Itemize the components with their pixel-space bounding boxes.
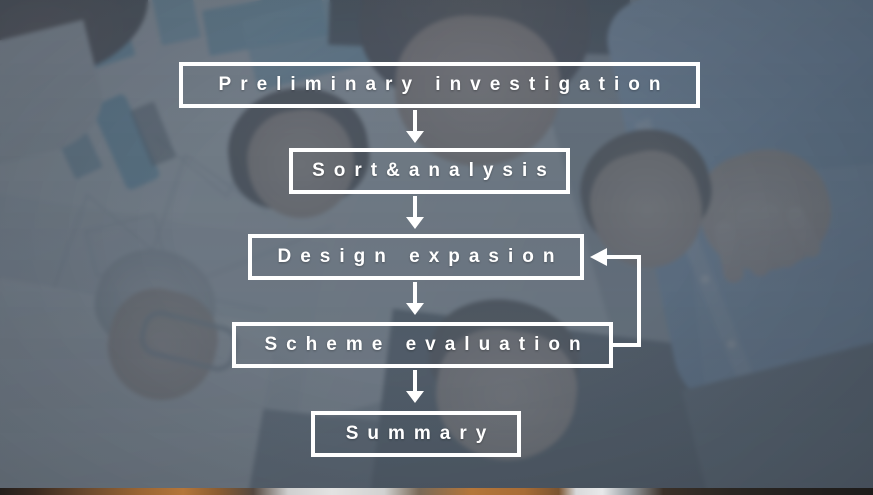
- flow-arrow-3-4: [404, 282, 426, 315]
- flow-node-summary[interactable]: Summary: [311, 411, 521, 457]
- flow-node-sort-analysis[interactable]: Sort&analysis: [289, 148, 570, 194]
- flow-arrow-1-2: [404, 110, 426, 143]
- slide-canvas: Preliminary investigation Sort&analysis …: [0, 0, 873, 495]
- flow-node-design-expasion[interactable]: Design expasion: [248, 234, 584, 280]
- flow-node-scheme-evaluation[interactable]: Scheme evaluation: [232, 322, 613, 368]
- flow-arrow-4-5: [404, 370, 426, 403]
- flow-arrow-feedback-loop: [584, 248, 656, 352]
- flow-arrow-2-3: [404, 196, 426, 229]
- flow-node-preliminary-investigation[interactable]: Preliminary investigation: [179, 62, 700, 108]
- flowchart: Preliminary investigation Sort&analysis …: [0, 0, 873, 495]
- next-slide-edge-strip: [0, 488, 873, 495]
